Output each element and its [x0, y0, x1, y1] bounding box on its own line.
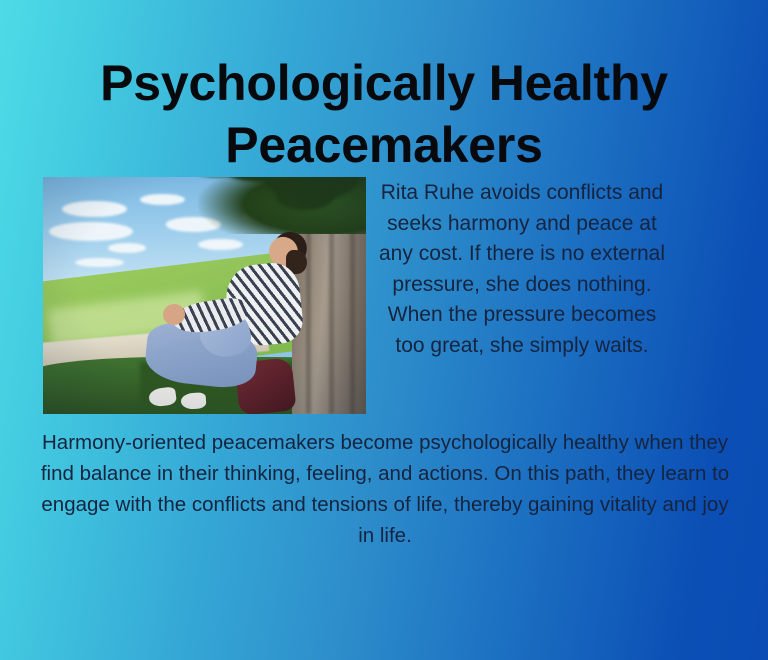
- page-title: Psychologically Healthy Peacemakers: [0, 52, 768, 176]
- woman-shoe: [181, 393, 207, 410]
- leaf-cluster: [276, 182, 334, 210]
- photo-frame: [43, 177, 366, 414]
- cloud-shape: [75, 258, 123, 267]
- page-title-line-1: Psychologically Healthy: [60, 52, 708, 114]
- cloud-shape: [108, 243, 147, 252]
- woman-shoe: [148, 386, 177, 407]
- seated-woman: [153, 234, 321, 409]
- meadow-photo: [43, 177, 366, 414]
- poster-canvas: Psychologically Healthy Peacemakers: [0, 0, 768, 660]
- page-title-line-2: Peacemakers: [60, 114, 708, 176]
- character-description: Rita Ruhe avoids conflicts and seeks har…: [377, 178, 667, 361]
- cloud-shape: [62, 201, 127, 218]
- summary-paragraph: Harmony-oriented peacemakers become psyc…: [38, 427, 732, 551]
- cloud-shape: [49, 222, 133, 241]
